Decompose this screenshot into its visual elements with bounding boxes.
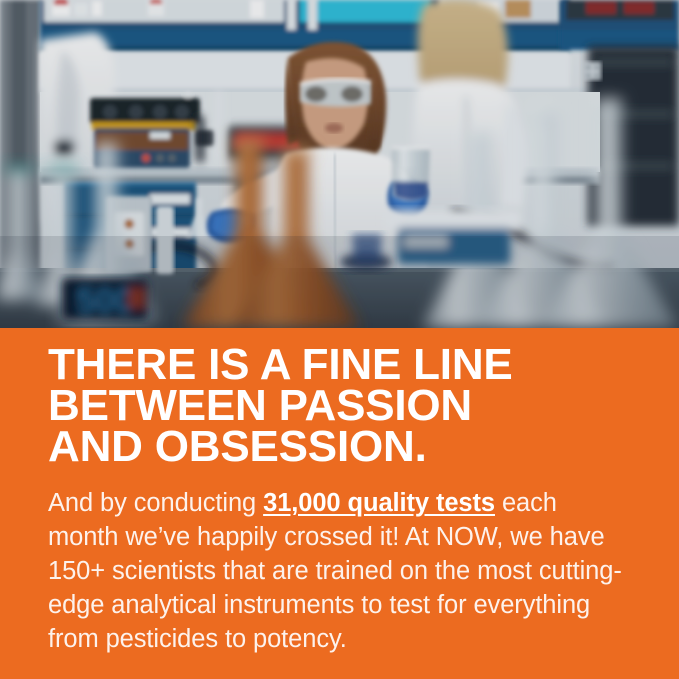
body-paragraph: And by conducting 31,000 quality tests e… — [48, 486, 634, 656]
lab-photo-illustration: 500 — [0, 0, 679, 328]
orange-message-panel: THERE IS A FINE LINE BETWEEN PASSION AND… — [0, 328, 679, 679]
lab-photo: 500 — [0, 0, 679, 328]
headline-line-2: BETWEEN PASSION — [48, 385, 648, 426]
headline-line-3: AND OBSESSION. — [48, 426, 648, 467]
body-text-before: And by conducting — [48, 489, 263, 517]
promo-poster: 500 — [0, 0, 679, 679]
page-headline: THERE IS A FINE LINE BETWEEN PASSION AND… — [48, 344, 648, 467]
quality-tests-emphasis: 31,000 quality tests — [263, 489, 495, 517]
headline-line-1: THERE IS A FINE LINE — [48, 344, 648, 385]
